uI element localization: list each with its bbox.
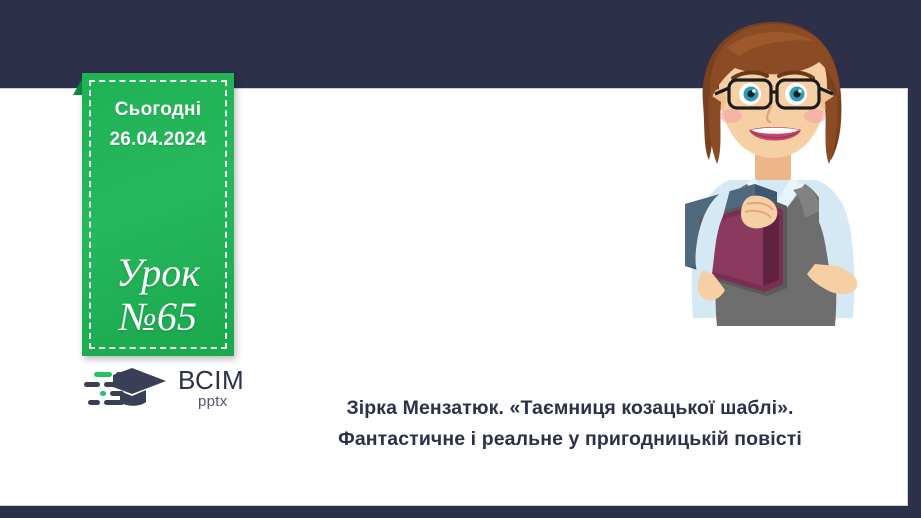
logo-text: ВСІМ pptx	[178, 367, 244, 409]
teacher-illustration	[651, 8, 921, 330]
lesson-card: Сьогодні 26.04.2024 Урок №65	[82, 73, 234, 356]
page-title-line-1: Зірка Мензатюк. «Таємниця козацької шабл…	[266, 393, 874, 424]
lesson-card-fold	[73, 79, 82, 95]
lesson-date: 26.04.2024	[82, 125, 234, 155]
page-title-line-2: Фантастичне і реальне у пригодницькій по…	[266, 424, 874, 455]
page-title: Зірка Мензатюк. «Таємниця козацької шабл…	[266, 393, 874, 455]
graduation-cap-icon	[80, 366, 172, 410]
logo-title: ВСІМ	[178, 367, 244, 393]
lesson-word: Урок	[82, 251, 234, 295]
bcim-pptx-logo: ВСІМ pptx	[80, 364, 255, 412]
today-label: Сьогодні	[82, 95, 234, 125]
slide-root: Сьогодні 26.04.2024 Урок №65	[0, 0, 921, 518]
lesson-card-body: Сьогодні 26.04.2024 Урок №65	[82, 73, 234, 356]
lesson-number: №65	[82, 295, 234, 339]
logo-subtitle: pptx	[198, 394, 228, 409]
